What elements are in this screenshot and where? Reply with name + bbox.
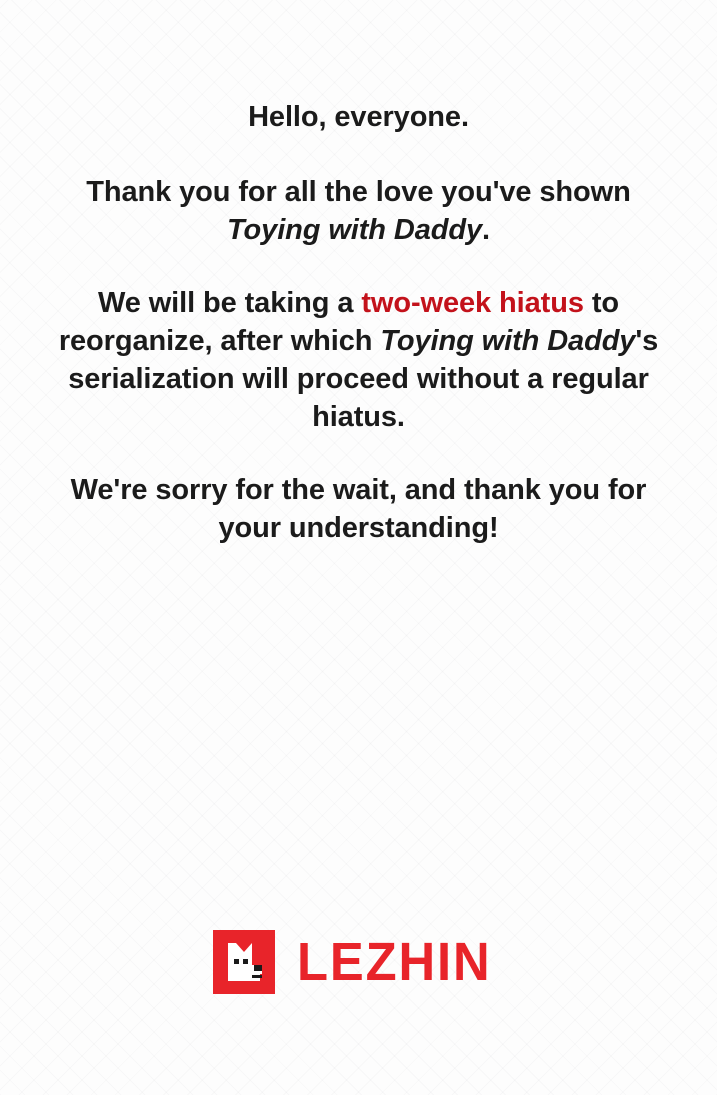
thanks-line: Thank you for all the love you've shown bbox=[86, 176, 630, 208]
notice-greeting: Hello, everyone. bbox=[0, 98, 717, 136]
notice-paragraph-apology: We're sorry for the wait, and thank you … bbox=[0, 471, 717, 547]
apology-text: We're sorry for the wait, and thank you … bbox=[71, 474, 647, 544]
greeting-text: Hello, everyone. bbox=[248, 101, 469, 133]
lezhin-wordmark: LEZHIN bbox=[297, 935, 492, 989]
series-title: Toying with Daddy bbox=[380, 325, 635, 357]
notice-paragraph-thanks: Thank you for all the love you've shown … bbox=[0, 173, 717, 249]
hiatus-lead: We will be taking a bbox=[98, 287, 361, 319]
lezhin-cat-icon bbox=[213, 930, 275, 994]
thanks-period: . bbox=[482, 214, 490, 246]
notice-text-block: Hello, everyone. Thank you for all the l… bbox=[0, 98, 717, 547]
lezhin-logo: LEZHIN bbox=[0, 930, 717, 994]
comic-notice-page: Hello, everyone. Thank you for all the l… bbox=[0, 0, 717, 1095]
series-title: Toying with Daddy bbox=[227, 214, 482, 246]
hiatus-highlight: two-week hiatus bbox=[361, 287, 584, 319]
notice-paragraph-hiatus: We will be taking a two-week hiatus to r… bbox=[0, 284, 717, 436]
